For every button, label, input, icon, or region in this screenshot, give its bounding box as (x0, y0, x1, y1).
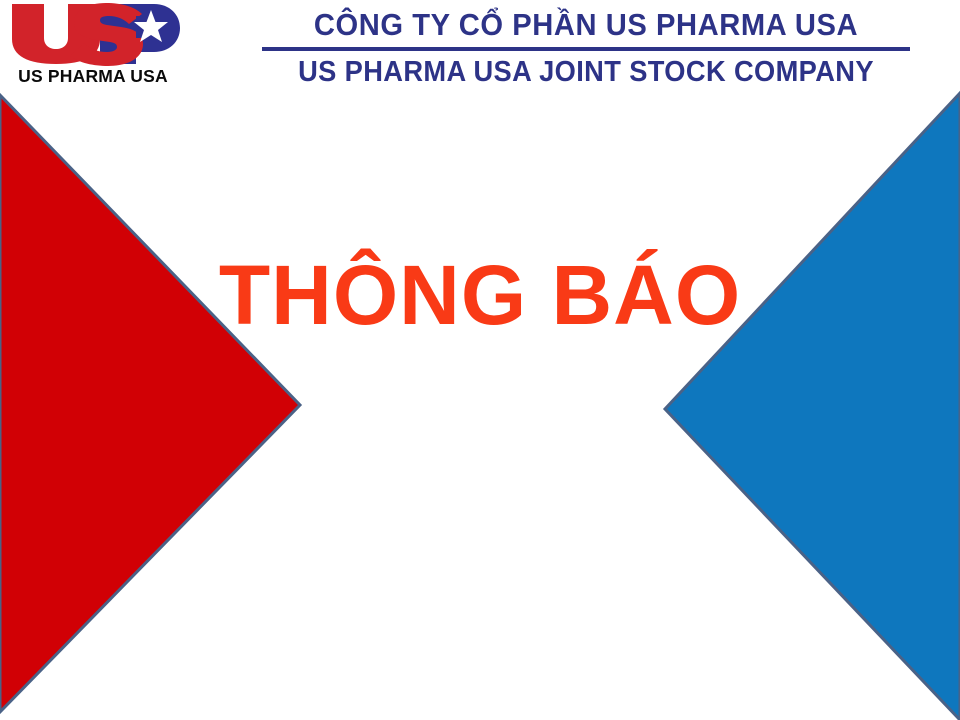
title-area: THÔNG BÁO (0, 249, 960, 341)
slide-title: THÔNG BÁO (219, 249, 741, 341)
decoration-shapes (0, 0, 960, 720)
company-logo: US PHARMA USA (4, 2, 184, 94)
slide-canvas: US PHARMA USA CÔNG TY CỔ PHẦN US PHARMA … (0, 0, 960, 720)
red-arrow-right-triangle (0, 95, 300, 712)
blue-arrow-left-triangle (665, 93, 960, 720)
logo-s-red-shape (70, 3, 143, 66)
usp-logo-icon (4, 2, 182, 66)
slide-header: US PHARMA USA CÔNG TY CỔ PHẦN US PHARMA … (0, 0, 960, 100)
logo-wordmark-text: US PHARMA USA (4, 66, 182, 87)
company-name-english: US PHARMA USA JOINT STOCK COMPANY (270, 55, 902, 89)
company-name-block: CÔNG TY CỔ PHẦN US PHARMA USA US PHARMA … (250, 6, 922, 89)
company-name-vietnamese: CÔNG TY CỔ PHẦN US PHARMA USA (270, 6, 902, 44)
header-divider-rule (262, 47, 910, 51)
